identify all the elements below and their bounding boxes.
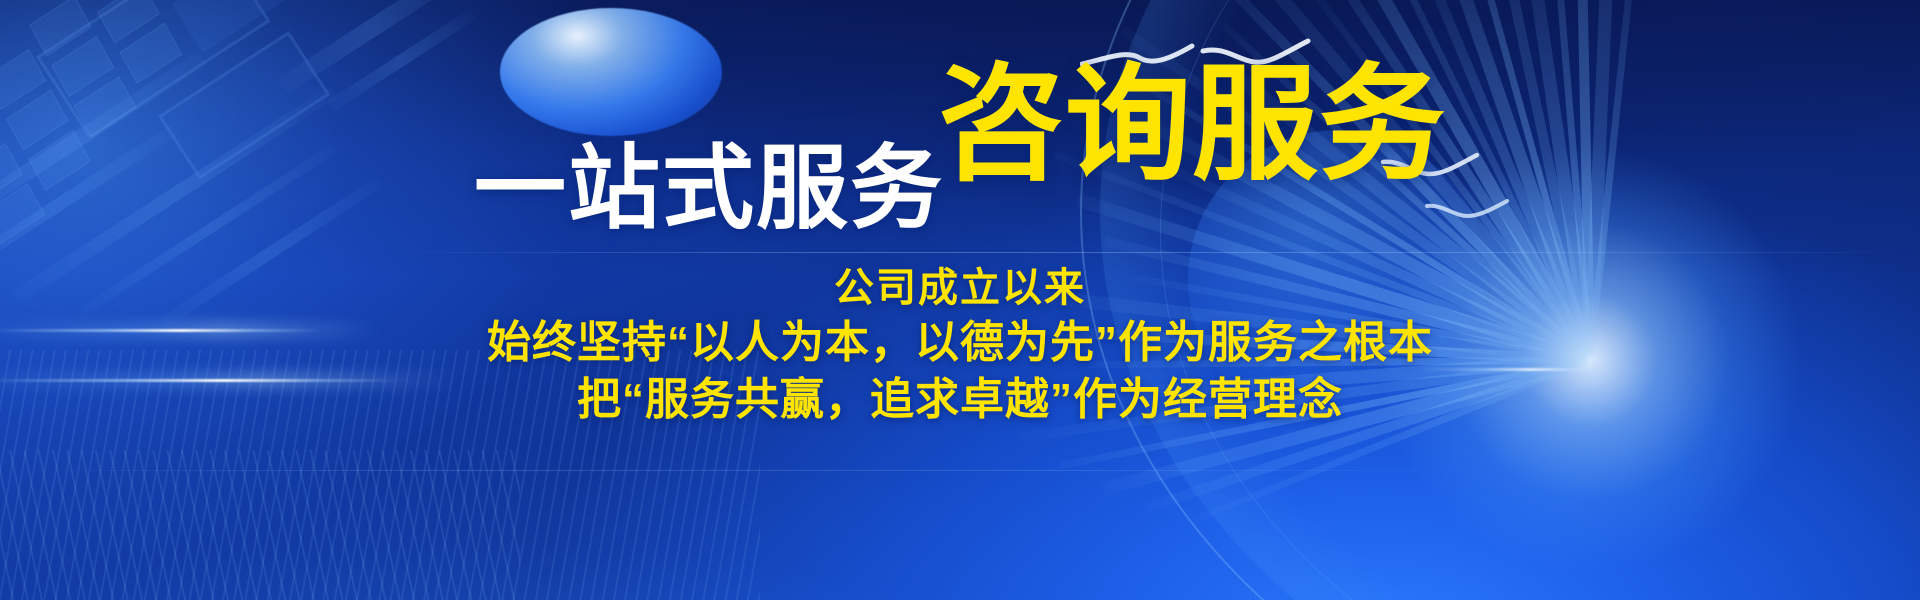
headline-primary: 一站式服务	[474, 138, 944, 240]
promotional-banner: 一站式服务咨询服务 公司成立以来 始终坚持“以人为本，以德为先”作为服务之根本 …	[0, 0, 1920, 600]
headline-inner: 一站式服务咨询服务	[474, 62, 1446, 188]
seagull-icon	[1424, 198, 1510, 228]
body-copy: 公司成立以来 始终坚持“以人为本，以德为先”作为服务之根本 把“服务共赢，追求卓…	[0, 262, 1920, 428]
body-line: 公司成立以来	[0, 262, 1920, 314]
headline-accent: 咨询服务	[938, 54, 1446, 195]
body-line: 始终坚持“以人为本，以德为先”作为服务之根本	[0, 314, 1920, 371]
horizon-line-1	[380, 252, 1920, 253]
horizon-line-2	[0, 470, 1500, 471]
hatch-texture-secondary	[0, 450, 520, 600]
headline: 一站式服务咨询服务	[0, 62, 1920, 188]
body-line: 把“服务共赢，追求卓越”作为经营理念	[0, 371, 1920, 428]
